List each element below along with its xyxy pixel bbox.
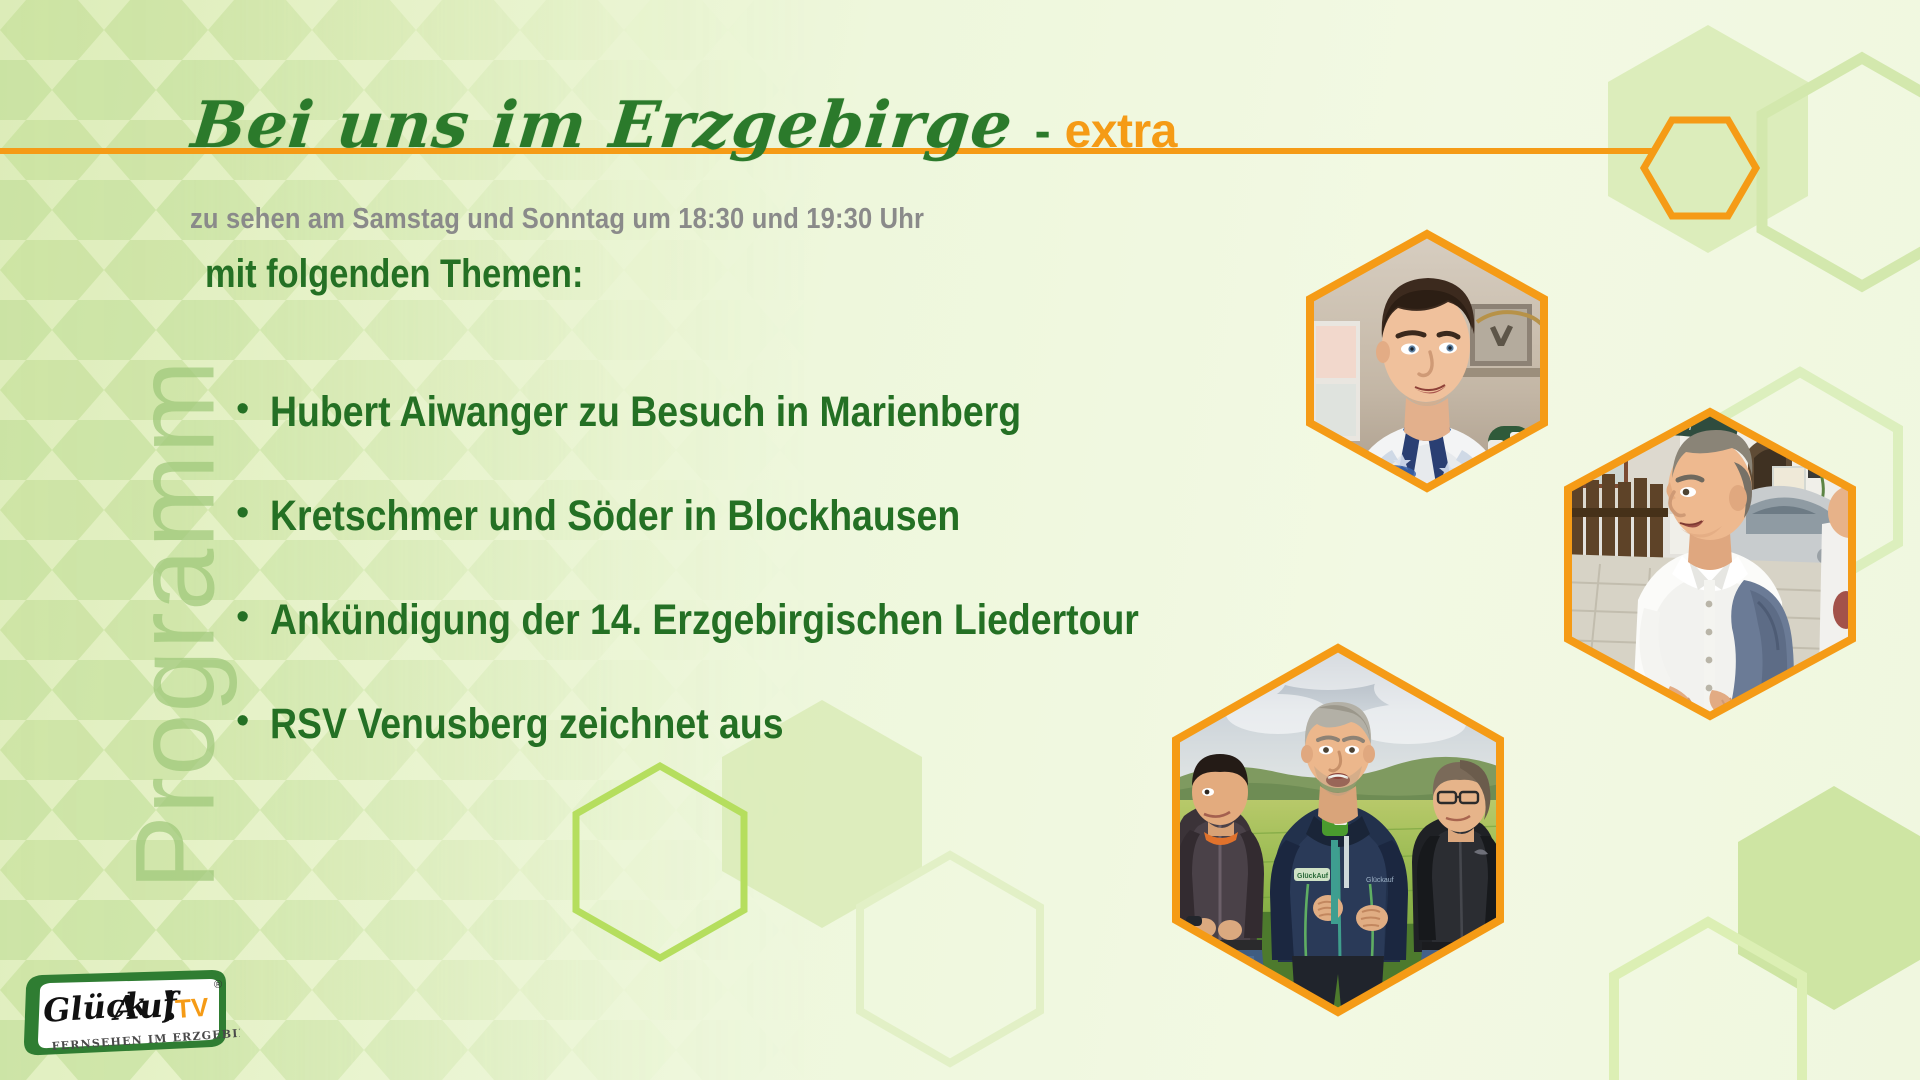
glueckauf-tv-logo[interactable]: Glück Auf ! TV ® FERNSEHEN IM ERZGEBIRGE (18, 968, 240, 1064)
topic-label: Hubert Aiwanger zu Besuch in Marienberg (270, 388, 1021, 437)
topic-label: RSV Venusberg zeichnet aus (270, 700, 784, 749)
broadcast-program-slide: Bei uns im Erzgebirge - extra zu sehen a… (0, 0, 1920, 1080)
topic-label: Ankündigung der 14. Erzgebirgischen Lied… (270, 596, 1139, 645)
bullet-icon: • (236, 390, 270, 428)
vertical-programm-label: Programm (111, 265, 240, 985)
page-title: Bei uns im Erzgebirge - extra (192, 88, 1177, 163)
broadcast-schedule-subtitle: zu sehen am Samstag und Sonntag um 18:30… (190, 203, 924, 236)
photo-cyclist-interview: ale (1302, 226, 1552, 496)
orange-hexagon-icon (1640, 116, 1760, 220)
list-item: • Kretschmer und Söder in Blockhausen (236, 464, 1336, 568)
bullet-icon: • (236, 702, 270, 740)
bullet-icon: • (236, 598, 270, 636)
svg-text:GlückAuf: GlückAuf (1297, 873, 1329, 880)
logo-tv-text: TV (174, 992, 210, 1024)
topics-intro-label: mit folgenden Themen: (205, 252, 583, 297)
topic-label: Kretschmer und Söder in Blockhausen (270, 492, 960, 541)
svg-text:BRÄU: BRÄU (1750, 414, 1785, 429)
photo-aiwanger-outdoors: Werner BRÄU (1560, 404, 1860, 724)
svg-text:Glückauf: Glückauf (1366, 877, 1394, 884)
title-main-text: Bei uns im Erzgebirge (188, 88, 1017, 163)
list-item: • Hubert Aiwanger zu Besuch in Marienber… (236, 360, 1336, 464)
photo-field-interview: GlückAuf Glückauf (1168, 640, 1508, 1020)
title-dash: - (1035, 104, 1051, 159)
svg-text:ale: ale (1472, 467, 1489, 481)
title-extra-text: extra (1065, 104, 1177, 159)
bullet-icon: • (236, 494, 270, 532)
logo-registered-mark: ® (214, 979, 222, 991)
